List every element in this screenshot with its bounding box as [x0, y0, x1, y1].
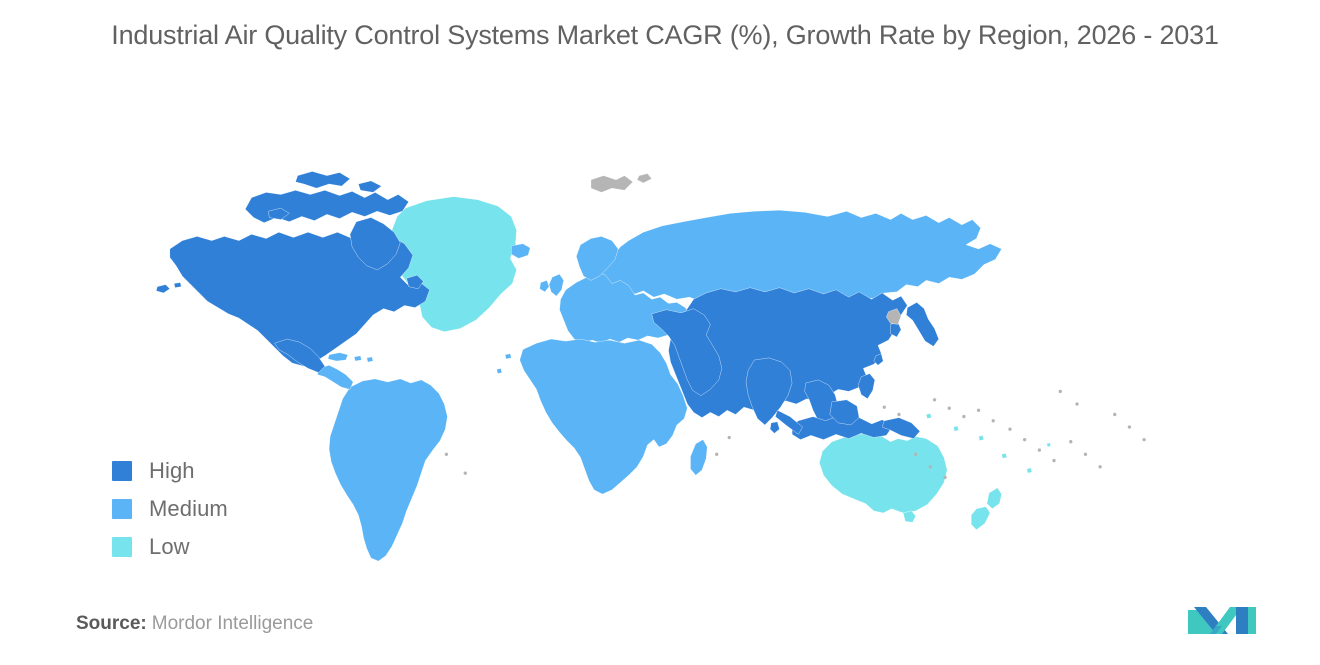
- region-south-america[interactable]: [329, 379, 447, 561]
- source-name: Mordor Intelligence: [152, 613, 314, 634]
- legend-item-high[interactable]: High: [112, 452, 342, 490]
- legend-label-high: High: [149, 458, 195, 484]
- country-sri-lanka[interactable]: [770, 422, 779, 434]
- page-title: Industrial Air Quality Control Systems M…: [50, 14, 1280, 57]
- islands-atlantic-medium: [497, 354, 512, 374]
- legend-item-medium[interactable]: Medium: [112, 490, 342, 528]
- logo-shape-blue-bar: [1236, 607, 1248, 634]
- region-central-america[interactable]: [318, 365, 354, 389]
- source-line: Source:Mordor Intelligence: [76, 613, 313, 635]
- islands-aleutian: [156, 282, 181, 292]
- region-africa[interactable]: [520, 339, 688, 494]
- country-japan[interactable]: [906, 302, 938, 346]
- legend-item-low[interactable]: Low: [112, 528, 342, 566]
- map-legend: High Medium Low: [112, 452, 342, 566]
- country-papua-new-guinea[interactable]: [882, 418, 920, 439]
- country-madagascar[interactable]: [690, 440, 707, 476]
- country-south-korea[interactable]: [891, 322, 901, 337]
- islands-caribbean: [328, 353, 373, 362]
- legend-label-medium: Medium: [149, 496, 228, 522]
- legend-swatch-low: [112, 537, 132, 557]
- country-iceland[interactable]: [511, 244, 530, 259]
- legend-swatch-medium: [112, 499, 132, 519]
- mi-logo-svg: [1186, 598, 1264, 640]
- legend-swatch-high: [112, 461, 132, 481]
- country-tasmania[interactable]: [903, 511, 916, 523]
- source-label: Source:: [76, 613, 147, 634]
- country-australia[interactable]: [819, 433, 947, 513]
- territory-svalbard[interactable]: [591, 174, 652, 193]
- region-canadian-arctic[interactable]: [245, 190, 408, 222]
- mordor-intelligence-logo: [1186, 598, 1264, 640]
- logo-shape-teal-bar: [1248, 607, 1256, 634]
- country-new-zealand-north[interactable]: [987, 488, 1002, 509]
- country-united-kingdom[interactable]: [540, 274, 564, 296]
- country-new-zealand-south[interactable]: [971, 507, 990, 530]
- legend-label-low: Low: [149, 534, 190, 560]
